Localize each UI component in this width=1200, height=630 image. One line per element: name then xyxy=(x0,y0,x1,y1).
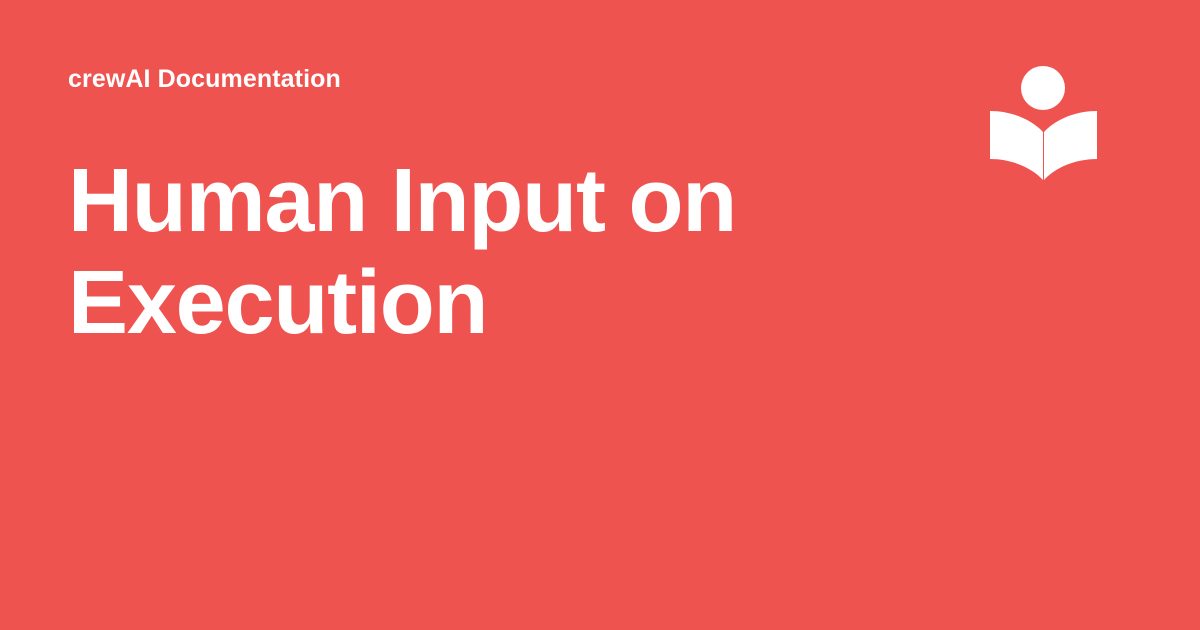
reader-head-shape xyxy=(1021,66,1065,110)
card-content: crewAI Documentation Human Input on Exec… xyxy=(68,64,828,354)
open-book-reader-icon xyxy=(986,60,1102,186)
breadcrumb-eyebrow: crewAI Documentation xyxy=(68,64,828,94)
og-card: crewAI Documentation Human Input on Exec… xyxy=(0,0,1200,630)
book-left-page-shape xyxy=(990,111,1043,180)
book-right-page-shape xyxy=(1044,111,1097,180)
page-title: Human Input on Execution xyxy=(68,150,768,354)
